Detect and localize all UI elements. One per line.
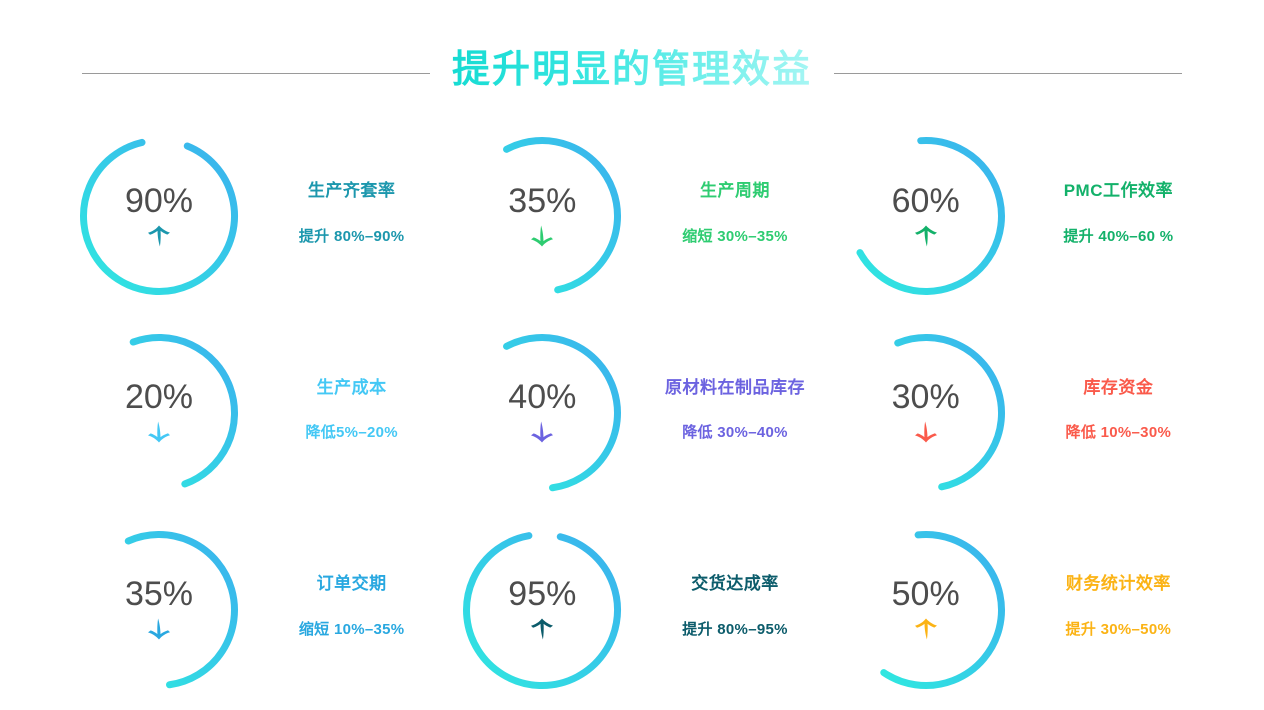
metric-card: 30% 库存资金 降低 10%–30% [827, 315, 1210, 512]
metric-card: 60% PMC工作效率 提升 40%–60 % [827, 118, 1210, 315]
ring-center: 95% [461, 529, 623, 691]
metric-labels: 生产齐套率 提升 80%–90% [240, 181, 443, 245]
metric-detail: 降低 30%–40% [682, 424, 788, 442]
metric-card: 50% 财务统计效率 提升 30%–50% [827, 511, 1210, 708]
metric-labels: 生产周期 缩短 30%–35% [623, 181, 826, 245]
percent-value: 40% [508, 380, 576, 414]
metric-title: 库存资金 [1083, 378, 1153, 398]
metrics-grid: 90% 生产齐套率 提升 80%–90% 35% [60, 118, 1210, 708]
ring-center: 40% [461, 332, 623, 494]
metric-detail: 降低5%–20% [305, 424, 397, 442]
metric-labels: 原材料在制品库存 降低 30%–40% [623, 378, 826, 442]
ring-center: 90% [78, 135, 240, 297]
metric-card: 95% 交货达成率 提升 80%–95% [443, 511, 826, 708]
arrow-down-icon [529, 223, 555, 249]
percent-value: 35% [508, 184, 576, 218]
metric-labels: 订单交期 缩短 10%–35% [240, 574, 443, 638]
arrow-down-icon [146, 419, 172, 445]
metric-title: 交货达成率 [691, 574, 779, 594]
metric-title: PMC工作效率 [1064, 181, 1173, 201]
metric-title: 原材料在制品库存 [665, 378, 805, 398]
percent-value: 20% [125, 380, 193, 414]
percent-value: 90% [125, 184, 193, 218]
metric-labels: PMC工作效率 提升 40%–60 % [1007, 181, 1210, 245]
arrow-up-icon [913, 616, 939, 642]
metric-card: 90% 生产齐套率 提升 80%–90% [60, 118, 443, 315]
metric-labels: 库存资金 降低 10%–30% [1007, 378, 1210, 442]
infographic-page: 提升明显的管理效益 90% 生产齐套率 提升 80%–90% [0, 0, 1264, 710]
metric-card: 20% 生产成本 降低5%–20% [60, 315, 443, 512]
ring-center: 30% [845, 332, 1007, 494]
percent-value: 30% [892, 380, 960, 414]
metric-title: 财务统计效率 [1066, 574, 1171, 594]
arrow-down-icon [913, 419, 939, 445]
metric-detail: 提升 30%–50% [1066, 621, 1172, 639]
ring-center: 60% [845, 135, 1007, 297]
percent-value: 35% [125, 577, 193, 611]
ring-center: 50% [845, 529, 1007, 691]
metric-detail: 提升 80%–90% [299, 228, 405, 246]
progress-ring: 30% [845, 332, 1007, 494]
metric-detail: 提升 80%–95% [682, 621, 788, 639]
metric-labels: 交货达成率 提升 80%–95% [623, 574, 826, 638]
arrow-up-icon [913, 223, 939, 249]
arrow-up-icon [146, 223, 172, 249]
metric-title: 生产成本 [317, 378, 387, 398]
ring-center: 20% [78, 332, 240, 494]
metric-title: 生产周期 [700, 181, 770, 201]
metric-detail: 缩短 30%–35% [682, 228, 788, 246]
progress-ring: 40% [461, 332, 623, 494]
metric-detail: 降低 10%–30% [1066, 424, 1172, 442]
progress-ring: 50% [845, 529, 1007, 691]
ring-center: 35% [78, 529, 240, 691]
page-title: 提升明显的管理效益 [452, 46, 812, 100]
metric-card: 35% 生产周期 缩短 30%–35% [443, 118, 826, 315]
arrow-down-icon [529, 419, 555, 445]
metric-card: 40% 原材料在制品库存 降低 30%–40% [443, 315, 826, 512]
header-rule-left [82, 73, 430, 74]
metric-labels: 财务统计效率 提升 30%–50% [1007, 574, 1210, 638]
metric-detail: 提升 40%–60 % [1063, 228, 1173, 246]
percent-value: 50% [892, 577, 960, 611]
progress-ring: 60% [845, 135, 1007, 297]
metric-title: 订单交期 [317, 574, 387, 594]
metric-labels: 生产成本 降低5%–20% [240, 378, 443, 442]
arrow-down-icon [146, 616, 172, 642]
percent-value: 95% [508, 577, 576, 611]
header-rule-right [834, 73, 1182, 74]
metric-title: 生产齐套率 [308, 181, 396, 201]
progress-ring: 35% [461, 135, 623, 297]
metric-detail: 缩短 10%–35% [299, 621, 405, 639]
progress-ring: 90% [78, 135, 240, 297]
page-header: 提升明显的管理效益 [0, 40, 1264, 106]
arrow-up-icon [529, 616, 555, 642]
metric-card: 35% 订单交期 缩短 10%–35% [60, 511, 443, 708]
percent-value: 60% [892, 184, 960, 218]
progress-ring: 35% [78, 529, 240, 691]
progress-ring: 95% [461, 529, 623, 691]
progress-ring: 20% [78, 332, 240, 494]
ring-center: 35% [461, 135, 623, 297]
